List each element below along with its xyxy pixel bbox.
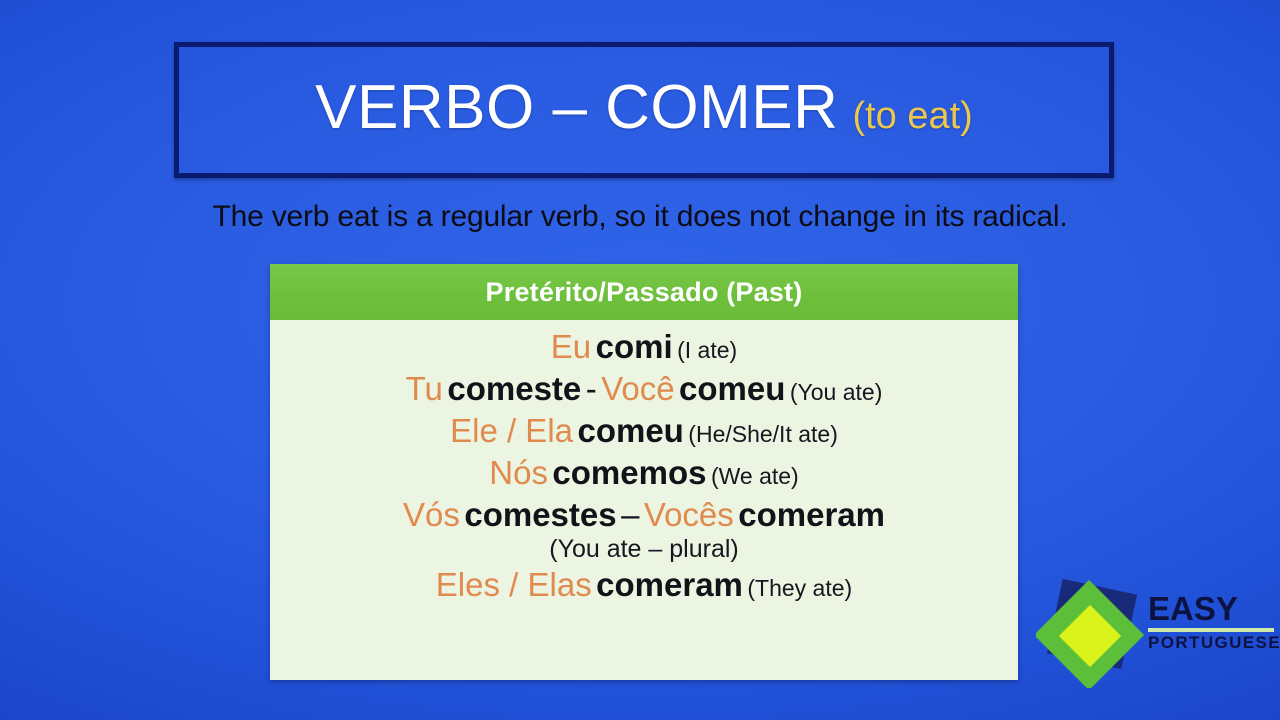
title-line: VERBO – COMER(to eat) xyxy=(315,77,973,139)
translation-gloss: (I ate) xyxy=(677,337,737,363)
page-title: VERBO – COMER xyxy=(315,73,838,142)
translation-gloss: (We ate) xyxy=(711,463,799,489)
row-separator: - xyxy=(586,370,597,407)
row-separator: – xyxy=(621,496,639,533)
pronoun: Nós xyxy=(489,454,548,491)
table-row: Eu comi (I ate) xyxy=(270,326,1018,368)
table-body: Eu comi (I ate) Tu comeste - Você comeu … xyxy=(270,320,1018,606)
verb-form: comeu xyxy=(577,412,683,449)
verb-form: comemos xyxy=(552,454,706,491)
diamond-logo-icon xyxy=(1036,578,1146,688)
verb-form: comi xyxy=(596,328,673,365)
title-translation: (to eat) xyxy=(852,95,972,137)
table-row: Eles / Elas comeram (They ate) xyxy=(270,564,1018,606)
pronoun-alt: Você xyxy=(601,370,674,407)
table-row: Tu comeste - Você comeu (You ate) xyxy=(270,368,1018,410)
pronoun: Ele / Ela xyxy=(450,412,573,449)
logo-text-block: EASY PORTUGUESE xyxy=(1148,592,1276,651)
brand-logo: EASY PORTUGUESE xyxy=(1036,578,1276,694)
verb-form: comeram xyxy=(596,566,743,603)
table-row: Ele / Ela comeu (He/She/It ate) xyxy=(270,410,1018,452)
pronoun-alt: Vocês xyxy=(644,496,734,533)
conjugation-table: Pretérito/Passado (Past) Eu comi (I ate)… xyxy=(270,264,1018,680)
slide-canvas: VERBO – COMER(to eat) The verb eat is a … xyxy=(0,0,1280,720)
table-row: Vós comestes – Vocês comeram xyxy=(270,494,1018,536)
table-row-gloss: (You ate – plural) xyxy=(270,536,1018,565)
translation-gloss: (They ate) xyxy=(747,575,852,601)
pronoun: Vós xyxy=(403,496,460,533)
intro-sentence: The verb eat is a regular verb, so it do… xyxy=(0,200,1280,234)
pronoun: Eu xyxy=(551,328,591,365)
translation-gloss: (You ate) xyxy=(790,379,883,405)
logo-line-portuguese: PORTUGUESE xyxy=(1148,634,1276,651)
logo-divider xyxy=(1148,628,1274,632)
table-row: Nós comemos (We ate) xyxy=(270,452,1018,494)
verb-form: comestes xyxy=(464,496,616,533)
verb-form-alt: comeram xyxy=(738,496,885,533)
translation-gloss: (You ate – plural) xyxy=(549,535,738,563)
verb-form: comeste xyxy=(447,370,581,407)
translation-gloss: (He/She/It ate) xyxy=(688,421,838,447)
verb-form-alt: comeu xyxy=(679,370,785,407)
table-header: Pretérito/Passado (Past) xyxy=(270,264,1018,320)
pronoun: Eles / Elas xyxy=(436,566,592,603)
pronoun: Tu xyxy=(406,370,443,407)
title-box: VERBO – COMER(to eat) xyxy=(174,42,1114,178)
logo-line-easy: EASY xyxy=(1148,592,1276,625)
